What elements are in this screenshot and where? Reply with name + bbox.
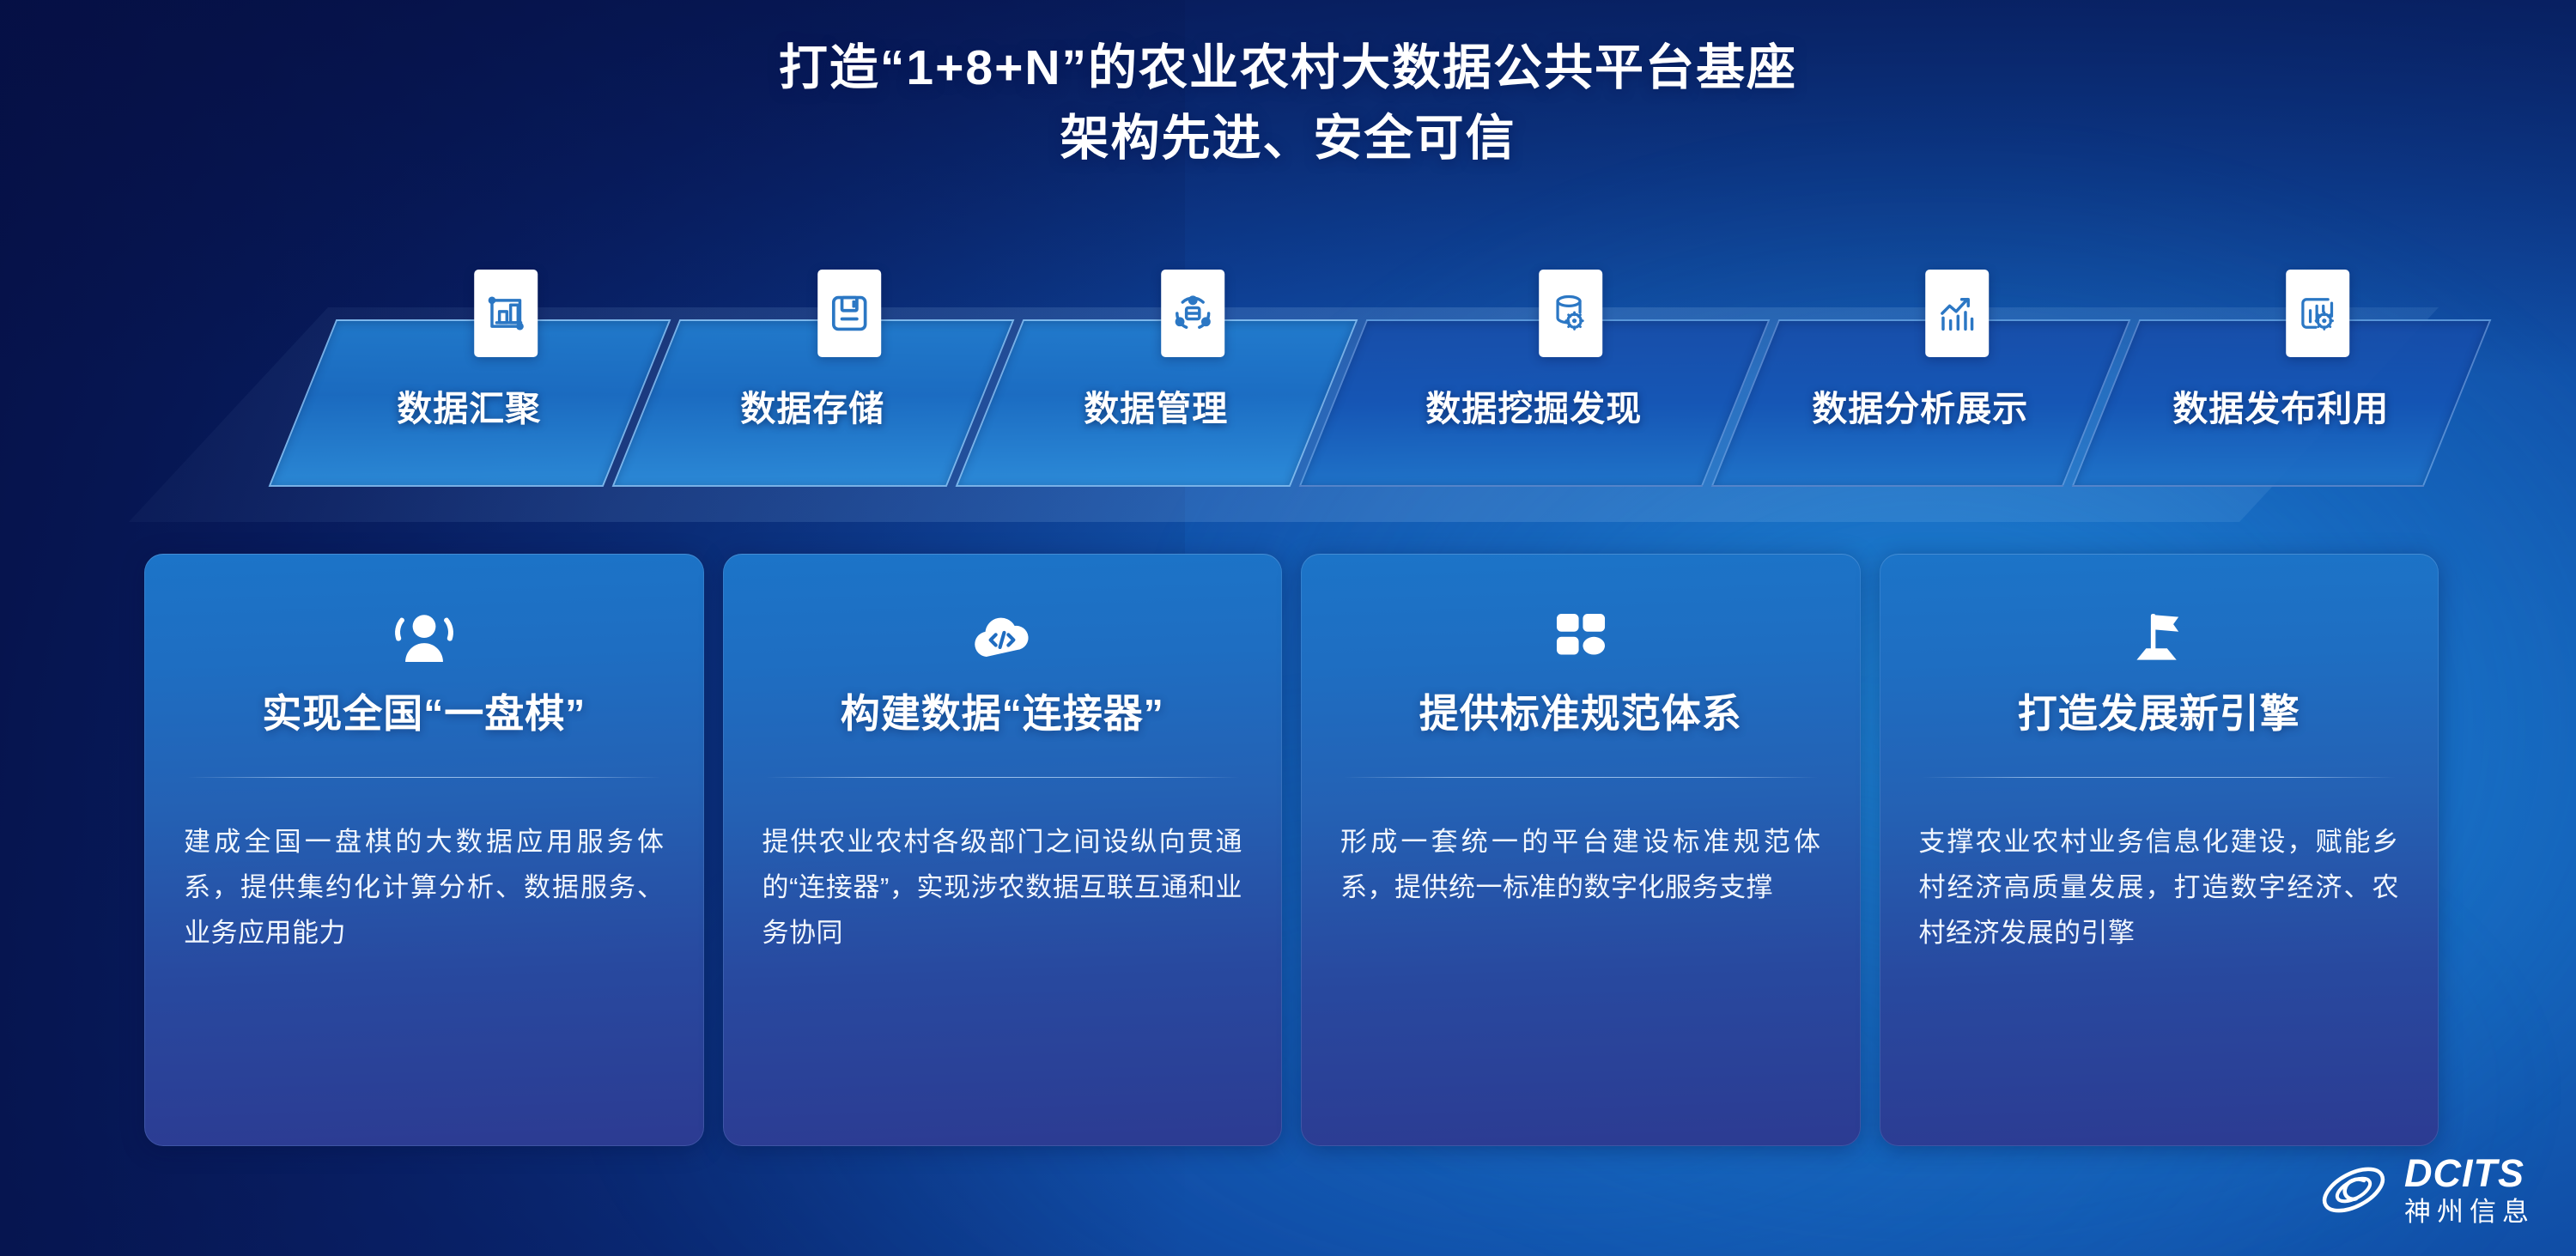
cloud-code-icon: [762, 598, 1243, 677]
floppy-disk-icon: [817, 270, 881, 357]
ribbon-step-label: 数据挖掘发现: [1334, 321, 1734, 488]
process-ribbon: 数据汇聚 数据存储 数据管理: [0, 283, 2576, 532]
swirl-logo-icon: [2317, 1159, 2391, 1221]
card-divider: [766, 777, 1240, 778]
feature-card-title: 提供标准规范体系: [1340, 688, 1821, 739]
card-divider: [1344, 777, 1818, 778]
logo-name-cn: 神州信息: [2404, 1198, 2535, 1225]
feature-card-title: 构建数据“连接器”: [762, 688, 1243, 739]
ribbon-step-label: 数据汇聚: [303, 321, 635, 488]
trend-chart-icon: [1925, 270, 1989, 357]
feature-card-list: 实现全国“一盘棋” 建成全国一盘棋的大数据应用服务体系，提供集约化计算分析、数据…: [144, 554, 2439, 1146]
feature-card-lianjieqi[interactable]: 构建数据“连接器” 提供农业农村各级部门之间设纵向贯通的“连接器”，实现涉农数据…: [723, 554, 1283, 1146]
ribbon-step-shujuwajuefaxian[interactable]: 数据挖掘发现: [1299, 319, 1771, 487]
grid-squares-icon: [1340, 598, 1821, 677]
ribbon-step-label: 数据管理: [990, 321, 1321, 488]
bar-chart-icon: [474, 270, 538, 357]
feature-card-xinyinqing[interactable]: 打造发展新引擎 支撑农业农村业务信息化建设，赋能乡村经济高质量发展，打造数字经济…: [1880, 554, 2439, 1146]
logo-text: DCITS 神州信息: [2404, 1154, 2535, 1225]
database-gear-icon: [1539, 270, 1602, 357]
feature-card-title: 打造发展新引擎: [1919, 688, 2400, 739]
ribbon-step-label: 数据发布利用: [2106, 321, 2455, 488]
logo-name-en: DCITS: [2404, 1154, 2535, 1192]
feature-card-biaozhunguifan[interactable]: 提供标准规范体系 形成一套统一的平台建设标准规范体系，提供统一标准的数字化服务支…: [1301, 554, 1861, 1146]
ribbon-step-label: 数据存储: [647, 321, 978, 488]
network-nodes-icon: [1161, 270, 1224, 357]
company-logo: DCITS 神州信息: [2317, 1154, 2535, 1225]
ribbon-step-shujufabuliyong[interactable]: 数据发布利用: [2072, 319, 2492, 487]
feature-card-yipanqi[interactable]: 实现全国“一盘棋” 建成全国一盘棋的大数据应用服务体系，提供集约化计算分析、数据…: [144, 554, 704, 1146]
ribbon-step-label: 数据分析展示: [1746, 321, 2094, 488]
ribbon-step-shujufenxizhanshi[interactable]: 数据分析展示: [1711, 319, 2131, 487]
card-divider: [187, 777, 661, 778]
ribbon-step-shujucunchu[interactable]: 数据存储: [612, 319, 1015, 487]
card-divider: [1923, 777, 2397, 778]
feature-card-body: 提供农业农村各级部门之间设纵向贯通的“连接器”，实现涉农数据互联互通和业务协同: [762, 819, 1243, 956]
feature-card-body: 支撑农业农村业务信息化建设，赋能乡村经济高质量发展，打造数字经济、农村经济发展的…: [1919, 819, 2400, 956]
feature-card-body: 建成全国一盘棋的大数据应用服务体系，提供集约化计算分析、数据服务、业务应用能力: [184, 819, 665, 956]
page-title: 打造“1+8+N”的农业农村大数据公共平台基座 架构先进、安全可信: [0, 33, 2576, 173]
flag-icon: [1919, 598, 2400, 677]
feature-card-title: 实现全国“一盘棋”: [184, 688, 665, 739]
people-icon: [184, 598, 665, 677]
ribbon-step-shujuhuiju[interactable]: 数据汇聚: [269, 319, 671, 487]
report-gear-icon: [2286, 270, 2349, 357]
feature-card-body: 形成一套统一的平台建设标准规范体系，提供统一标准的数字化服务支撑: [1340, 819, 1821, 910]
page-title-line-1: 打造“1+8+N”的农业农村大数据公共平台基座: [0, 33, 2576, 103]
page-title-line-2: 架构先进、安全可信: [0, 103, 2576, 173]
ribbon-step-shujuguanli[interactable]: 数据管理: [956, 319, 1358, 487]
